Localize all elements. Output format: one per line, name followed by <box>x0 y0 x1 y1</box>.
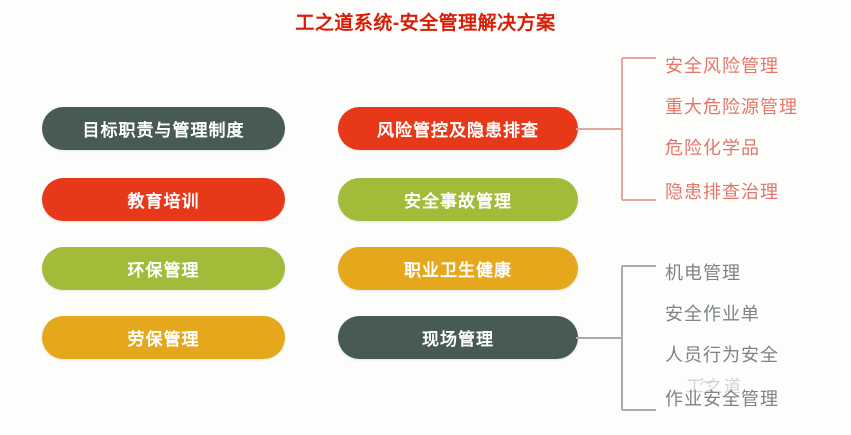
node-label: 现场管理 <box>422 325 494 350</box>
leaf-site-2[interactable]: 安全作业单 <box>665 300 760 326</box>
node-labor-protection-management[interactable]: 劳保管理 <box>42 316 285 359</box>
node-label: 环保管理 <box>128 256 200 281</box>
leaf-risk-4[interactable]: 隐患排查治理 <box>665 178 779 204</box>
leaf-site-3[interactable]: 人员行为安全 <box>665 341 779 367</box>
watermark-text: 工之道 <box>686 372 743 397</box>
leaf-risk-1[interactable]: 安全风险管理 <box>665 52 779 78</box>
node-label: 职业卫生健康 <box>404 256 512 281</box>
node-site-management[interactable]: 现场管理 <box>338 316 578 359</box>
node-education-training[interactable]: 教育培训 <box>42 178 285 221</box>
leaf-risk-2[interactable]: 重大危险源管理 <box>665 93 798 119</box>
leaf-site-1[interactable]: 机电管理 <box>665 259 741 285</box>
node-environmental-management[interactable]: 环保管理 <box>42 247 285 290</box>
node-label: 安全事故管理 <box>404 187 512 212</box>
node-risk-control-hazard-investigation[interactable]: 风险管控及隐患排查 <box>338 107 578 150</box>
connector-bracket-site <box>576 262 660 414</box>
connector-bracket-risk <box>576 54 660 204</box>
page-title: 工之道系统-安全管理解决方案 <box>0 8 851 35</box>
node-label: 目标职责与管理制度 <box>83 116 245 141</box>
node-safety-accident-management[interactable]: 安全事故管理 <box>338 178 578 221</box>
node-goal-responsibility-system[interactable]: 目标职责与管理制度 <box>42 107 285 150</box>
diagram-canvas: 工之道系统-安全管理解决方案 目标职责与管理制度 教育培训 环保管理 劳保管理 … <box>0 0 851 435</box>
leaf-risk-3[interactable]: 危险化学品 <box>665 134 760 160</box>
node-label: 风险管控及隐患排查 <box>377 116 539 141</box>
node-label: 劳保管理 <box>128 325 200 350</box>
node-label: 教育培训 <box>128 187 200 212</box>
node-occupational-health[interactable]: 职业卫生健康 <box>338 247 578 290</box>
